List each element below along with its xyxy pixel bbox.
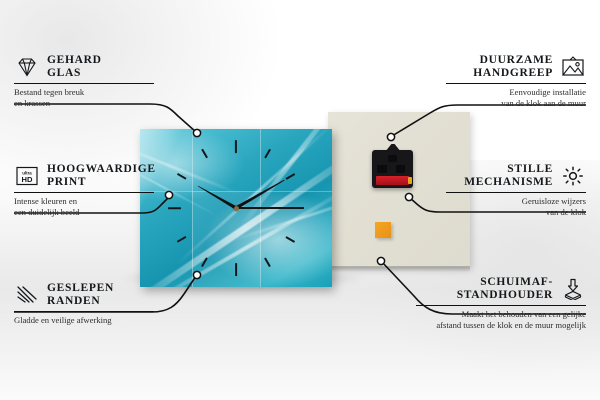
- ultra-hd-icon: ultra HD: [14, 165, 40, 187]
- callout-header: GESLEPEN RANDEN: [14, 282, 154, 308]
- mechanism-hole: [388, 155, 397, 162]
- hour-tick: [264, 258, 271, 268]
- foam-standoff-icon: [560, 278, 586, 300]
- callout-title-line1: GEHARD: [47, 54, 102, 67]
- callout-rule: [14, 192, 154, 193]
- callout-title-line2: MECHANISME: [464, 176, 553, 189]
- picture-frame-icon: [560, 56, 586, 78]
- callout-title-line2: RANDEN: [47, 295, 114, 308]
- diamond-icon: [14, 56, 40, 78]
- glass-clock-face: [140, 129, 332, 287]
- hour-tick: [286, 173, 296, 180]
- callout-stille-mechanisme: STILLE MECHANISME Geruisloze wijzers van…: [446, 163, 586, 218]
- callout-sub-line1: Intense kleuren en: [14, 196, 154, 207]
- hour-tick: [177, 236, 187, 243]
- callout-geslepen-randen: GESLEPEN RANDEN Gladde en veilige afwerk…: [14, 282, 154, 326]
- callout-title-line1: SCHUIMAF-: [457, 276, 553, 289]
- callout-gehard-glas: GEHARD GLAS Bestand tegen breuk en krass…: [14, 54, 154, 109]
- callout-title-line2: STANDHOUDER: [457, 289, 553, 302]
- callout-header: GEHARD GLAS: [14, 54, 154, 80]
- glass-quadrant: [192, 191, 260, 287]
- svg-text:HD: HD: [22, 175, 33, 184]
- hour-tick: [286, 236, 296, 243]
- callout-sub-line1: Eenvoudige installatie: [446, 87, 586, 98]
- callout-sub-line2: en krassen: [14, 98, 154, 109]
- hanger-tab-icon: [385, 144, 401, 152]
- callout-sub-line2: een duidelijk beeld: [14, 207, 154, 218]
- second-hand: [236, 207, 294, 209]
- hour-tick: [201, 149, 208, 159]
- callout-rule: [446, 192, 586, 193]
- callout-sub-line1: Bestand tegen breuk: [14, 87, 154, 98]
- clock-mechanism: [372, 150, 413, 188]
- hand-center-pin: [234, 206, 239, 211]
- callout-sub-line2: afstand tussen de klok en de muur mogeli…: [416, 320, 586, 331]
- callout-title-line1: DUURZAME: [473, 54, 553, 67]
- hour-tick: [264, 149, 271, 159]
- callout-sub-line1: Gladde en veilige afwerking: [14, 315, 154, 326]
- product-photo: [140, 112, 470, 280]
- callout-header: DUURZAME HANDGREEP: [446, 54, 586, 80]
- hour-tick: [235, 140, 237, 153]
- callout-title-line1: HOOGWAARDIGE: [47, 163, 156, 176]
- callout-header: SCHUIMAF- STANDHOUDER: [416, 276, 586, 302]
- glass-seam-horizontal: [140, 191, 332, 192]
- callout-header: ultra HD HOOGWAARDIGE PRINT: [14, 163, 154, 189]
- gear-icon: [560, 165, 586, 187]
- glass-seam-vertical: [192, 129, 193, 287]
- bevelled-edges-icon: [14, 284, 40, 306]
- hour-tick: [235, 263, 237, 276]
- foam-standoff-pad: [375, 222, 391, 238]
- callout-sub-line1: Geruisloze wijzers: [446, 196, 586, 207]
- callout-rule: [14, 83, 154, 84]
- callout-rule: [446, 83, 586, 84]
- callout-title-line2: GLAS: [47, 67, 102, 80]
- callout-hoogwaardige-print: ultra HD HOOGWAARDIGE PRINT Intense kleu…: [14, 163, 154, 218]
- callout-title-line1: STILLE: [464, 163, 553, 176]
- mechanism-block-left: [377, 165, 387, 173]
- callout-rule: [416, 305, 586, 306]
- callout-title-line2: PRINT: [47, 176, 156, 189]
- callout-rule: [14, 311, 154, 312]
- callout-duurzame-handgreep: DUURZAME HANDGREEP Eenvoudige installati…: [446, 54, 586, 109]
- callout-schuimafstandhouder: SCHUIMAF- STANDHOUDER Maakt het behouden…: [416, 276, 586, 331]
- callout-sub-line2: van de klok aan de muur: [446, 98, 586, 109]
- callout-title-line2: HANDGREEP: [473, 67, 553, 80]
- battery: [376, 176, 409, 185]
- hour-tick: [168, 207, 181, 209]
- callout-title-line1: GESLEPEN: [47, 282, 114, 295]
- callout-sub-line1: Maakt het behouden van een gelijke: [416, 309, 586, 320]
- infographic-canvas: GEHARD GLAS Bestand tegen breuk en krass…: [0, 0, 600, 400]
- callout-sub-line2: van de klok: [446, 207, 586, 218]
- callout-header: STILLE MECHANISME: [446, 163, 586, 189]
- mechanism-block-right: [396, 165, 405, 173]
